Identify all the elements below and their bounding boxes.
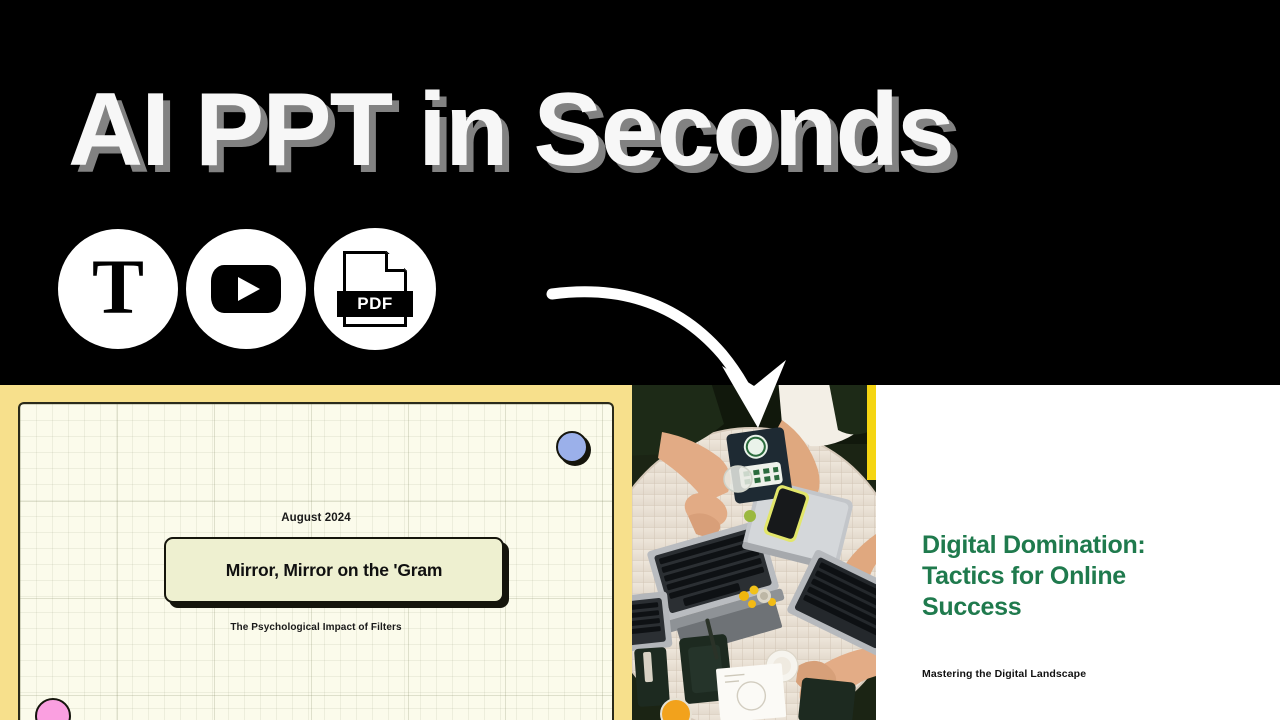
hero-banner: AI PPT in Seconds T PDF — [0, 0, 1280, 385]
slide-preview-strip: August 2024 Mirror, Mirror on the 'Gram … — [0, 384, 1280, 720]
page-title: AI PPT in Seconds — [68, 78, 1208, 182]
slide-title-card: Mirror, Mirror on the 'Gram — [164, 537, 504, 603]
youtube-icon-glyph — [211, 265, 281, 313]
slide-title-text: Mirror, Mirror on the 'Gram — [226, 560, 443, 581]
blue-circle-decoration — [556, 431, 588, 463]
slide-preview-left[interactable]: August 2024 Mirror, Mirror on the 'Gram … — [0, 384, 632, 720]
pdf-icon[interactable]: PDF — [314, 228, 436, 350]
slide-date-label: August 2024 — [20, 512, 612, 524]
youtube-icon[interactable] — [186, 229, 306, 349]
pdf-icon-glyph: PDF — [343, 251, 407, 327]
yellow-accent-stripe — [867, 384, 876, 480]
text-icon[interactable]: T — [58, 229, 178, 349]
slide-photo-panel[interactable] — [632, 384, 876, 720]
pdf-label-text: PDF — [357, 294, 393, 314]
text-icon-glyph: T — [92, 248, 144, 326]
format-icon-row: T PDF — [58, 228, 436, 350]
screenshot-root: August 2024 Mirror, Mirror on the 'Gram … — [0, 0, 1280, 720]
right-slide-title: Digital Domination: Tactics for Online S… — [922, 530, 1212, 622]
grid-paper-canvas: August 2024 Mirror, Mirror on the 'Gram … — [18, 402, 614, 720]
right-slide-subtitle: Mastering the Digital Landscape — [922, 668, 1086, 680]
pdf-label-band: PDF — [337, 291, 413, 317]
slide-subtitle-label: The Psychological Impact of Filters — [20, 622, 612, 633]
workspace-photo — [632, 384, 876, 720]
slide-preview-right[interactable]: Digital Domination: Tactics for Online S… — [876, 384, 1280, 720]
pink-circle-decoration — [35, 698, 71, 720]
